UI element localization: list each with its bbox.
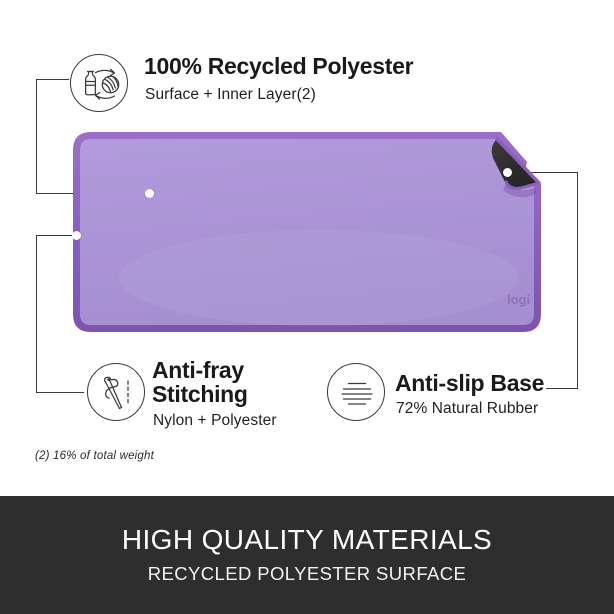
recycled-polyester-icon-frame [70, 54, 128, 112]
leader-line-antislip-bottom [546, 388, 578, 389]
anti-fray-stitching-title: Anti-fray Stitching [152, 358, 248, 407]
anti-fray-stitching-icon-frame [87, 363, 145, 421]
anti-slip-base-icon-frame [327, 363, 385, 421]
anti-slip-base-subtitle: 72% Natural Rubber [396, 400, 538, 418]
leader-line-stitching-bottom [36, 392, 84, 393]
logi-logo: logi [507, 292, 530, 307]
desk-mat-product-image: logi [69, 128, 547, 336]
recycled-polyester-subtitle: Surface + Inner Layer(2) [145, 86, 316, 104]
leader-line-antislip-vertical [577, 172, 578, 389]
leader-line-recycled-vertical [36, 79, 37, 193]
bottle-to-yarn-recycle-icon [71, 55, 129, 113]
callout-dot-stitching-edge [72, 231, 81, 240]
footnote-text: (2) 16% of total weight [35, 450, 154, 462]
needle-and-thread-icon [88, 364, 146, 422]
footer-banner: HIGH QUALITY MATERIALS RECYCLED POLYESTE… [0, 496, 614, 614]
callout-dot-antislip-base [503, 168, 512, 177]
footer-subtitle: RECYCLED POLYESTER SURFACE [148, 563, 466, 585]
anti-fray-stitching-subtitle: Nylon + Polyester [153, 412, 277, 430]
grip-lines-icon [328, 364, 386, 422]
infographic-canvas: logi [0, 0, 614, 614]
callout-dot-surface [145, 189, 154, 198]
mat-surface-sheen [119, 230, 519, 326]
recycled-polyester-title: 100% Recycled Polyester [144, 54, 413, 78]
anti-slip-base-title: Anti-slip Base [395, 371, 544, 395]
leader-line-stitching-vertical [36, 235, 37, 392]
leader-line-recycled-top [36, 79, 69, 80]
desk-mat-illustration: logi [69, 128, 547, 336]
footer-title: HIGH QUALITY MATERIALS [122, 524, 492, 556]
